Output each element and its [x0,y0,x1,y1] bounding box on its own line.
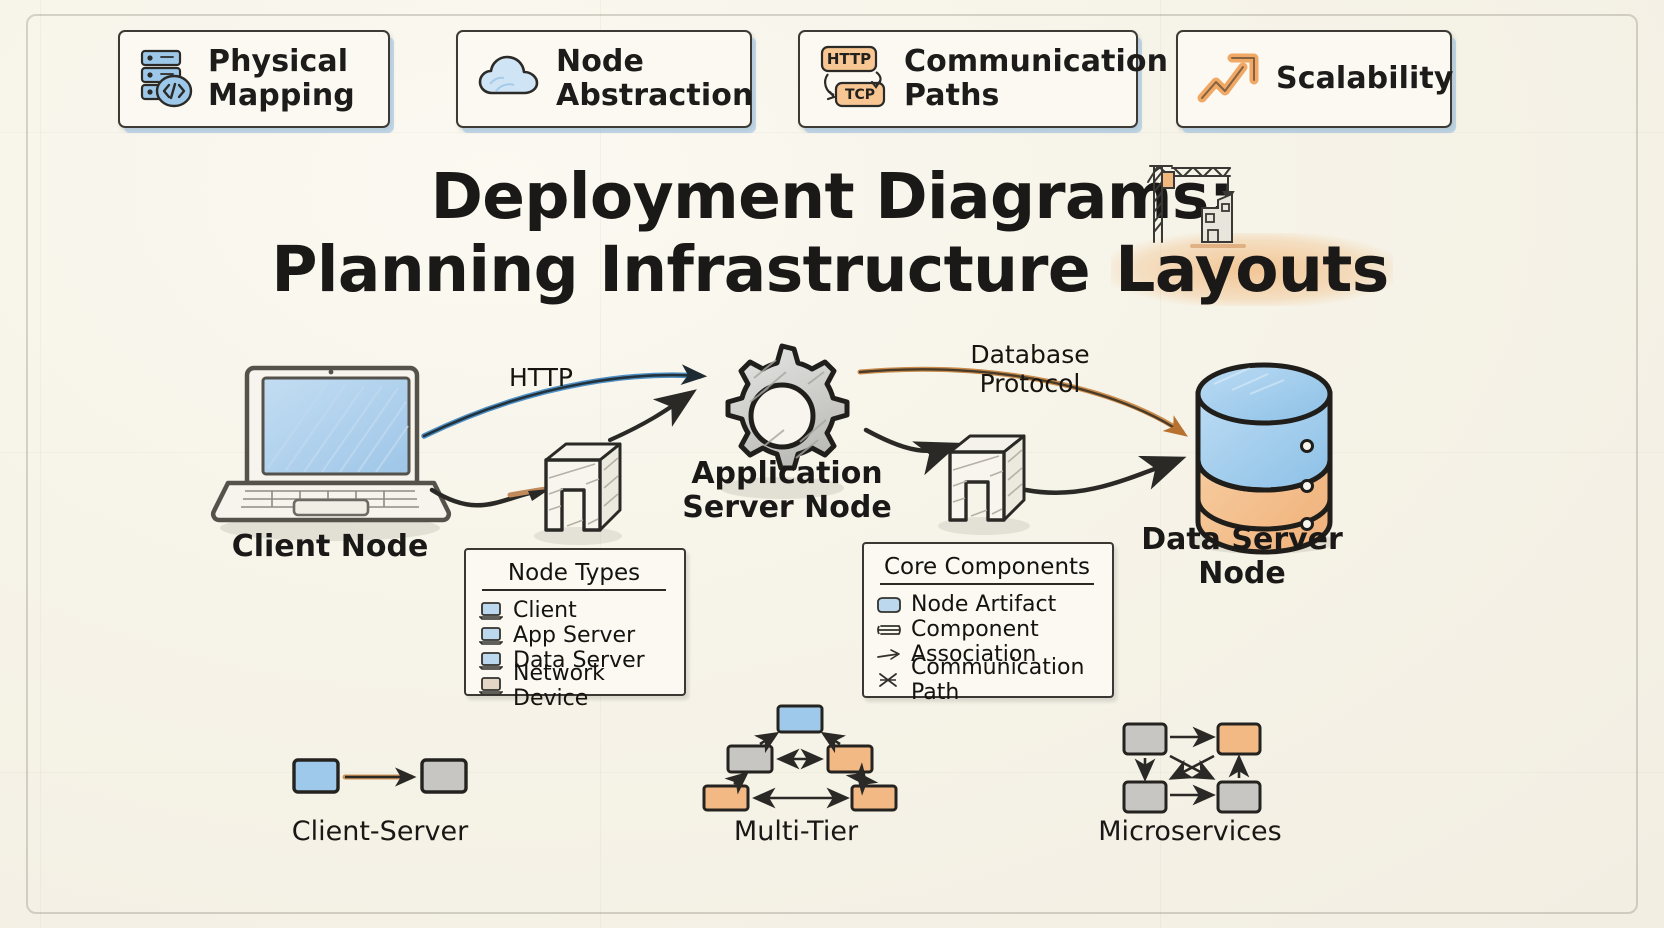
legend-row-label: Client [513,598,577,623]
communication-path-icon [876,671,902,689]
http-tcp-icon: HTTP TCP [818,42,890,116]
legend-row: App Server [478,623,670,648]
chip-label: Communication Paths [904,45,1168,112]
pattern-microservices-graphic [1110,716,1280,820]
laptop-icon [478,651,504,671]
caption-data-server-node: Data Server Node [1092,523,1392,591]
deployment-diagram-page: Physical Mapping Node Abstraction HTTP T… [0,0,1664,928]
legend-node-types: Node Types Client App Server Data Server… [464,548,686,696]
chip-label: Physical Mapping [208,45,355,112]
association-arrow-icon [876,646,902,664]
caption-client-node: Client Node [180,530,480,564]
construction-crane-icon [1140,150,1250,254]
pattern-label-multi-tier: Multi-Tier [646,816,946,847]
component-icon [876,621,902,639]
chip-communication-paths[interactable]: HTTP TCP Communication Paths [798,30,1138,128]
legend-row-label: Network Device [513,661,670,711]
chip-node-abstraction[interactable]: Node Abstraction [456,30,752,128]
legend-title: Node Types [482,560,666,591]
artifact-block-icon-left [534,444,622,545]
chip-physical-mapping[interactable]: Physical Mapping [118,30,390,128]
edge-label-database-protocol: Database Protocol [930,340,1130,398]
legend-row-label: Component [911,617,1039,642]
trending-up-arrow-icon [1196,46,1262,112]
laptop-icon [478,626,504,646]
server-rack-code-icon [138,46,194,112]
chip-label: Node Abstraction [556,45,753,112]
artifact-block-icon-right [938,436,1030,535]
cloud-icon [476,51,542,107]
pattern-label-microservices: Microservices [1040,816,1340,847]
laptop-icon [478,601,504,621]
laptop-icon [213,368,449,541]
chip-scalability[interactable]: Scalability [1176,30,1452,128]
laptop-icon [478,676,504,696]
legend-row: Node Artifact [876,592,1098,617]
title-line-2: Planning Infrastructure Layouts [0,233,1664,306]
pattern-client-server-graphic [250,740,510,810]
legend-core-components: Core Components Node Artifact Component … [862,542,1114,698]
legend-row: Client [478,598,670,623]
legend-title: Core Components [880,554,1094,585]
svg-text:HTTP: HTTP [827,50,871,68]
legend-row-label: Communication Path [911,655,1098,705]
legend-row: Component [876,617,1098,642]
node-artifact-icon [876,596,902,614]
edge-label-http: HTTP [476,363,606,392]
legend-row: Communication Path [876,667,1098,692]
svg-text:TCP: TCP [845,87,875,103]
legend-row: Network Device [478,673,670,698]
chip-label: Scalability [1276,62,1453,96]
page-title: Deployment Diagrams: Planning Infrastruc… [0,160,1664,306]
pattern-label-client-server: Client-Server [230,816,530,847]
title-line-2-plain: Planning Infrastructure [271,233,1111,306]
pattern-multi-tier-graphic [690,700,910,812]
legend-row-label: App Server [513,623,635,648]
title-line-1: Deployment Diagrams: [0,160,1664,233]
caption-application-server-node: Application Server Node [632,457,942,525]
legend-row-label: Node Artifact [911,592,1056,617]
